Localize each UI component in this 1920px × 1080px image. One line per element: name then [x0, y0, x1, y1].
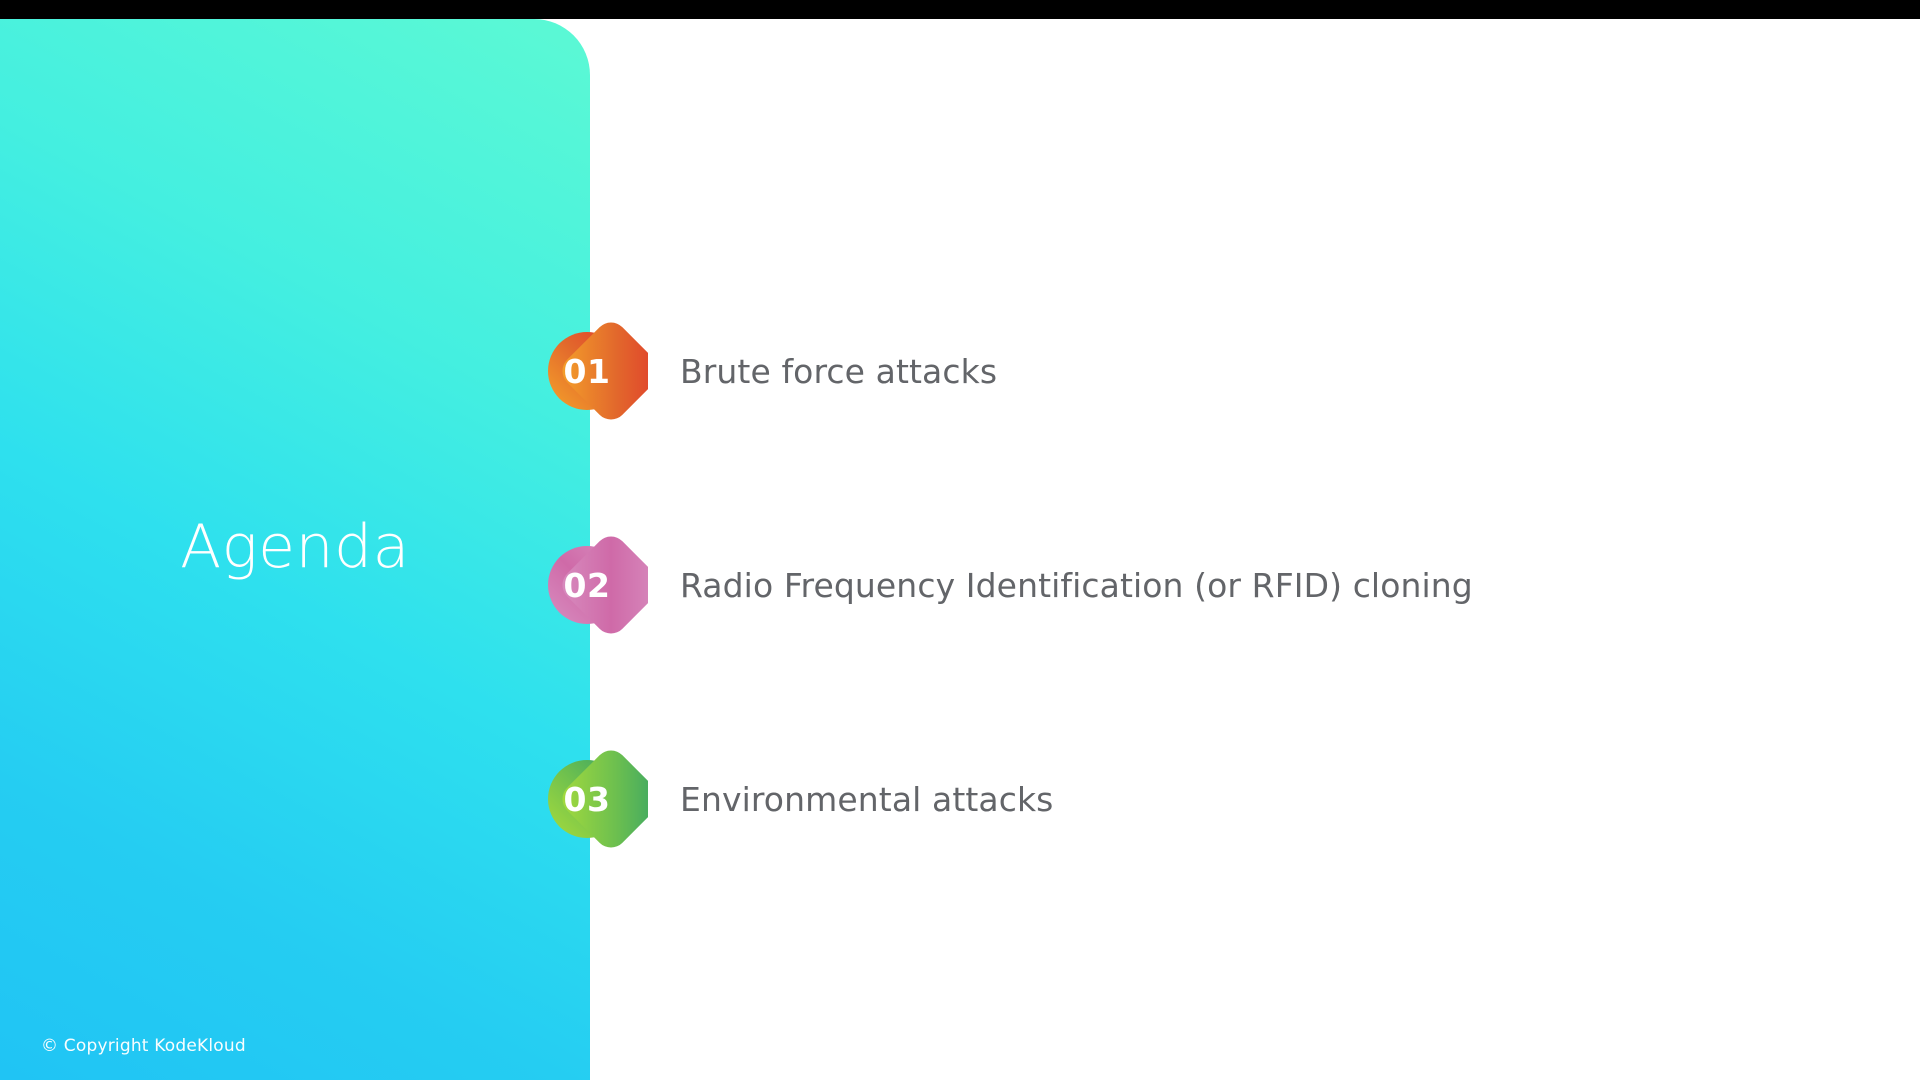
agenda-item-03[interactable]: 03 Environmental attacks: [548, 744, 1888, 854]
left-gradient-panel: Agenda: [0, 19, 590, 1080]
agenda-item-01[interactable]: 01 Brute force attacks: [548, 316, 1888, 426]
agenda-item-label-03: Environmental attacks: [680, 780, 1053, 819]
agenda-badge-number-01: 01: [548, 316, 626, 426]
agenda-badge-number-02: 02: [548, 530, 626, 640]
copyright-notice: © Copyright KodeKloud: [41, 1036, 246, 1056]
agenda-item-02[interactable]: 02 Radio Frequency Identification (or RF…: [548, 530, 1888, 640]
page-title: Agenda: [0, 19, 590, 1080]
agenda-item-label-01: Brute force attacks: [680, 352, 997, 391]
agenda-badge-03: 03: [548, 744, 648, 854]
agenda-badge-number-03: 03: [548, 744, 626, 854]
agenda-item-label-02: Radio Frequency Identification (or RFID)…: [680, 566, 1473, 605]
agenda-badge-01: 01: [548, 316, 648, 426]
top-letterbox-bar: [0, 0, 1920, 19]
agenda-badge-02: 02: [548, 530, 648, 640]
agenda-list: 01 Brute force attacks: [548, 316, 1888, 854]
slide-canvas: Agenda © Copyright KodeKloud: [0, 0, 1920, 1080]
